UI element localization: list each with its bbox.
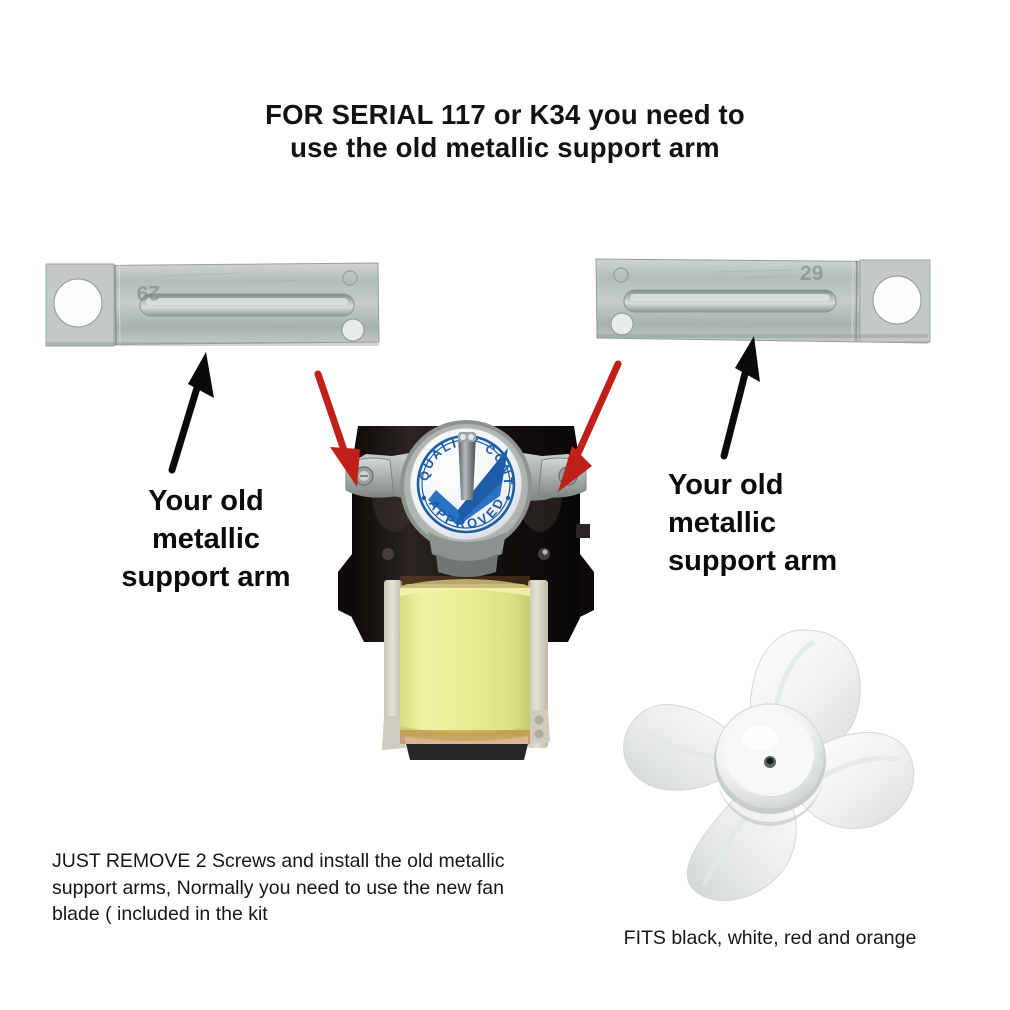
fan-motor-drawing: QUALITY CONTROL APPROVED <box>332 404 600 784</box>
installation-note: JUST REMOVE 2 Screws and install the old… <box>52 848 522 928</box>
motor-shaft <box>458 432 476 500</box>
callout-right-line3: support arm <box>668 542 978 580</box>
installation-note-line3: blade ( included in the kit <box>52 901 522 928</box>
callout-right-line2: metallic <box>668 504 978 542</box>
left-arm-stamp-29: 29 <box>137 281 160 304</box>
left-mounting-screw <box>355 467 373 485</box>
callout-right-support-arm: Your old metallic support arm <box>668 466 978 580</box>
black-arrow-right <box>724 336 760 456</box>
page-title-line1: FOR SERIAL 117 or K34 you need to <box>265 99 745 130</box>
left-support-arm-drawing: 29 <box>42 250 382 355</box>
installation-note-line1: JUST REMOVE 2 Screws and install the old… <box>52 848 522 875</box>
callout-left-support-arm: Your old metallic support arm <box>56 482 356 596</box>
callout-right-line1: Your old <box>668 466 978 504</box>
right-mounting-screw <box>559 467 577 485</box>
installation-note-line2: support arms, Normally you need to use t… <box>52 875 522 902</box>
page-title: FOR SERIAL 117 or K34 you need to use th… <box>0 98 1010 164</box>
page-title-line2: use the old metallic support arm <box>0 131 1010 164</box>
black-arrow-left <box>172 352 214 470</box>
svg-text:29: 29 <box>800 262 823 285</box>
fan-motor-photo: QUALITY CONTROL APPROVED <box>332 404 600 784</box>
instruction-image: FOR SERIAL 117 or K34 you need to use th… <box>0 0 1010 1010</box>
fan-blade-drawing <box>600 620 932 912</box>
fan-blade-caption: FITS black, white, red and orange <box>600 925 940 951</box>
right-support-arm-photo: 29 <box>594 248 934 353</box>
fan-blade-photo <box>600 620 932 912</box>
right-support-arm-drawing: 29 <box>594 248 934 353</box>
callout-left-line1: Your old <box>56 482 356 520</box>
callout-left-line3: support arm <box>56 558 356 596</box>
callout-left-line2: metallic <box>56 520 356 558</box>
svg-text:29: 29 <box>137 281 160 304</box>
left-support-arm-photo: 29 <box>42 250 382 355</box>
right-arm-stamp-29: 29 <box>800 262 823 285</box>
